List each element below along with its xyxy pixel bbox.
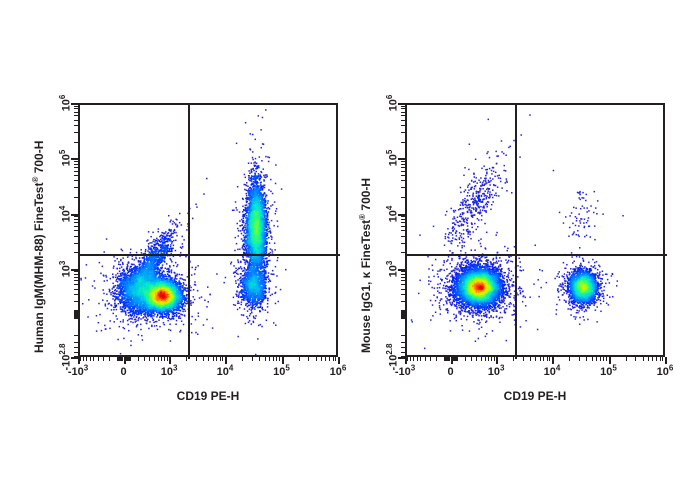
x-axis-minor-tick: [547, 357, 548, 361]
y-axis-minor-tick: [74, 347, 78, 348]
y-axis-minor-tick: [74, 352, 78, 353]
x-axis-minor-tick: [208, 357, 209, 361]
x-axis-minor-tick: [276, 357, 277, 361]
y-axis-minor-tick: [74, 274, 78, 275]
x-axis-minor-tick: [485, 357, 486, 361]
y-axis-minor-tick: [74, 317, 78, 318]
y-axis-minor-tick: [401, 164, 405, 165]
x-axis-minor-tick: [196, 357, 197, 361]
y-axis-minor-tick: [401, 252, 405, 253]
x-axis-title-right: CD19 PE-H: [504, 389, 567, 403]
y-axis-minor-tick: [74, 171, 78, 172]
y-axis-minor-tick: [74, 106, 78, 107]
y-axis-minor-tick: [401, 108, 405, 109]
x-axis-minor-tick: [299, 357, 300, 361]
y-axis-minor-tick: [74, 180, 78, 181]
y-axis-minor-tick: [74, 115, 78, 116]
x-axis-minor-tick: [569, 357, 570, 361]
x-axis-minor-tick: [167, 357, 168, 361]
y-axis-minor-tick: [74, 312, 78, 313]
y-axis-title-left: Human IgM(MHM-88) FineTest® 700-H: [32, 141, 46, 353]
y-axis-minor-tick: [401, 106, 405, 107]
x-axis-minor-tick: [540, 357, 541, 361]
x-axis-minor-tick: [660, 357, 661, 361]
x-axis-minor-tick: [325, 357, 326, 361]
y-axis-minor-tick: [74, 315, 78, 316]
x-axis-minor-tick: [471, 357, 472, 361]
x-axis-major-tick: [451, 357, 453, 364]
x-axis-minor-tick: [269, 357, 270, 361]
y-axis-minor-tick: [74, 226, 78, 227]
x-axis-major-tick: [609, 357, 611, 364]
y-axis-minor-tick: [401, 120, 405, 121]
x-axis-minor-tick: [83, 357, 84, 361]
y-axis-minor-tick: [401, 313, 405, 314]
y-axis-minor-tick: [74, 187, 78, 188]
x-axis-tick-label: 103: [161, 367, 178, 378]
x-axis-minor-tick: [103, 357, 104, 361]
y-axis-minor-tick: [401, 161, 405, 162]
x-axis-minor-tick: [626, 357, 627, 361]
x-axis-minor-tick: [643, 357, 644, 361]
y-axis-minor-tick: [401, 314, 405, 315]
y-axis-minor-tick: [401, 243, 405, 244]
y-axis-minor-tick: [401, 280, 405, 281]
x-axis-minor-tick: [425, 357, 426, 361]
x-axis-minor-tick: [158, 357, 159, 361]
quadrant-line-horizontal-right: [407, 254, 667, 256]
y-axis-minor-tick: [74, 294, 78, 295]
x-axis-minor-tick: [117, 357, 118, 361]
x-axis-title-left: CD19 PE-H: [177, 389, 240, 403]
x-axis-minor-tick: [457, 357, 458, 361]
y-axis-minor-tick: [74, 310, 78, 311]
x-axis-minor-tick: [436, 357, 437, 361]
x-axis-tick-label: 0: [121, 367, 127, 378]
x-axis-minor-tick: [90, 357, 91, 361]
y-axis-minor-tick: [401, 311, 405, 312]
y-axis-minor-tick: [401, 277, 405, 278]
x-axis-minor-tick: [321, 357, 322, 361]
x-axis-minor-tick: [592, 357, 593, 361]
x-axis-minor-tick: [138, 357, 139, 361]
y-axis-minor-tick: [74, 301, 78, 302]
y-axis-tick-label: 106: [62, 95, 73, 112]
x-axis-major-tick: [124, 357, 126, 364]
x-axis-minor-tick: [494, 357, 495, 361]
x-axis-minor-tick: [476, 357, 477, 361]
x-axis-minor-tick: [481, 357, 482, 361]
y-axis-minor-tick: [401, 347, 405, 348]
x-axis-minor-tick: [648, 357, 649, 361]
y-axis-minor-tick: [401, 175, 405, 176]
y-axis-minor-tick: [74, 289, 78, 290]
x-axis-minor-tick: [488, 357, 489, 361]
y-axis-minor-tick: [401, 271, 405, 272]
y-axis-minor-tick: [401, 197, 405, 198]
x-axis-minor-tick: [656, 357, 657, 361]
y-axis-title-right: Mouse IgG1, κ FineTest® 700-H: [359, 178, 373, 353]
y-axis-minor-tick: [74, 311, 78, 312]
x-axis-minor-tick: [596, 357, 597, 361]
y-axis-minor-tick: [74, 243, 78, 244]
y-axis-minor-tick: [401, 115, 405, 116]
x-axis-minor-tick: [80, 357, 81, 361]
x-axis-minor-tick: [149, 357, 150, 361]
y-axis-minor-tick: [401, 301, 405, 302]
x-axis-minor-tick: [652, 357, 653, 361]
x-axis-minor-tick: [316, 357, 317, 361]
y-axis-minor-tick: [74, 164, 78, 165]
y-axis-minor-tick: [401, 314, 405, 315]
x-axis-minor-tick: [513, 357, 514, 361]
x-axis-minor-tick: [329, 357, 330, 361]
x-axis-major-tick: [169, 357, 171, 364]
y-axis-minor-tick: [401, 294, 405, 295]
x-axis-tick-label: 103: [488, 367, 505, 378]
x-axis-tick-label: 105: [273, 367, 290, 378]
x-axis-minor-tick: [144, 357, 145, 361]
x-axis-minor-tick: [279, 357, 280, 361]
y-axis-minor-tick: [401, 167, 405, 168]
x-axis-major-tick: [665, 357, 667, 364]
x-axis-minor-tick: [600, 357, 601, 361]
x-axis-minor-tick: [635, 357, 636, 361]
x-axis-minor-tick: [586, 357, 587, 361]
y-axis-minor-tick: [74, 108, 78, 109]
x-axis-minor-tick: [98, 357, 99, 361]
x-axis-minor-tick: [549, 357, 550, 361]
x-axis-minor-tick: [491, 357, 492, 361]
y-axis-minor-tick: [74, 271, 78, 272]
y-axis-minor-tick: [74, 120, 78, 121]
x-axis-major-tick: [225, 357, 227, 364]
y-axis-minor-tick: [74, 284, 78, 285]
y-axis-minor-tick: [401, 317, 405, 318]
y-axis-minor-tick: [401, 219, 405, 220]
y-axis-minor-tick: [74, 335, 78, 336]
y-axis-minor-tick: [401, 284, 405, 285]
x-axis-minor-tick: [308, 357, 309, 361]
y-axis-minor-tick: [401, 312, 405, 313]
y-axis-minor-tick: [401, 187, 405, 188]
y-axis-minor-tick: [401, 230, 405, 231]
flow-plot-panel-right: -1030103104105106-102.8103104105106 CD19…: [344, 0, 688, 490]
y-axis-minor-tick: [74, 167, 78, 168]
y-axis-minor-tick: [401, 342, 405, 343]
x-axis-minor-tick: [606, 357, 607, 361]
x-axis-minor-tick: [164, 357, 165, 361]
x-axis-minor-tick: [662, 357, 663, 361]
x-axis-minor-tick: [259, 357, 260, 361]
x-axis-minor-tick: [222, 357, 223, 361]
x-axis-minor-tick: [417, 357, 418, 361]
y-axis-minor-tick: [74, 175, 78, 176]
y-axis-minor-tick: [401, 352, 405, 353]
y-axis-minor-tick: [401, 236, 405, 237]
y-axis-minor-tick: [401, 226, 405, 227]
y-axis-minor-tick: [74, 216, 78, 217]
x-axis-minor-tick: [543, 357, 544, 361]
y-axis-minor-tick: [74, 132, 78, 133]
y-axis-minor-tick: [401, 310, 405, 311]
y-axis-minor-tick: [74, 314, 78, 315]
x-axis-minor-tick: [413, 357, 414, 361]
y-axis-minor-tick: [401, 289, 405, 290]
x-axis-minor-tick: [86, 357, 87, 361]
quadrant-line-vertical-right: [515, 105, 517, 359]
y-axis-tick-label: 104: [62, 205, 73, 222]
x-axis-tick-label: 104: [217, 367, 234, 378]
y-axis-minor-tick: [74, 314, 78, 315]
y-axis-tick-label: 104: [389, 205, 400, 222]
plot-frame-left: [78, 103, 338, 357]
x-axis-minor-tick: [216, 357, 217, 361]
plot-frame-right: [405, 103, 665, 357]
y-axis-minor-tick: [74, 252, 78, 253]
x-axis-major-tick: [496, 357, 498, 364]
y-axis-minor-tick: [74, 219, 78, 220]
y-axis-minor-tick: [401, 112, 405, 113]
x-axis-minor-tick: [523, 357, 524, 361]
x-axis-minor-tick: [213, 357, 214, 361]
y-axis-minor-tick: [401, 142, 405, 143]
x-axis-minor-tick: [530, 357, 531, 361]
x-axis-minor-tick: [130, 357, 131, 361]
y-axis-minor-tick: [401, 171, 405, 172]
x-axis-minor-tick: [444, 357, 445, 361]
y-axis-minor-tick: [74, 316, 78, 317]
y-axis-minor-tick: [401, 216, 405, 217]
x-axis-minor-tick: [252, 357, 253, 361]
y-axis-minor-tick: [74, 280, 78, 281]
x-axis-major-tick: [405, 357, 407, 364]
x-axis-tick-label: 0: [448, 367, 454, 378]
x-axis-minor-tick: [407, 357, 408, 361]
y-axis-minor-tick: [74, 197, 78, 198]
x-axis-minor-tick: [242, 357, 243, 361]
x-axis-minor-tick: [579, 357, 580, 361]
y-axis-minor-tick: [74, 313, 78, 314]
x-axis-minor-tick: [273, 357, 274, 361]
y-axis-minor-tick: [401, 125, 405, 126]
x-axis-minor-tick: [420, 357, 421, 361]
x-axis-minor-tick: [535, 357, 536, 361]
y-axis-tick-label: 105: [62, 150, 73, 167]
y-axis-minor-tick: [401, 335, 405, 336]
y-axis-minor-tick: [401, 274, 405, 275]
x-axis-tick-label: 106: [657, 367, 674, 378]
y-axis-tick-label: -102.8: [62, 343, 73, 370]
y-axis-minor-tick: [74, 222, 78, 223]
y-axis-minor-tick: [74, 142, 78, 143]
y-axis-tick-label: 103: [389, 260, 400, 277]
x-axis-minor-tick: [203, 357, 204, 361]
x-axis-minor-tick: [109, 357, 110, 361]
y-axis-minor-tick: [401, 222, 405, 223]
x-axis-major-tick: [338, 357, 340, 364]
x-axis-minor-tick: [335, 357, 336, 361]
x-axis-minor-tick: [465, 357, 466, 361]
x-axis-major-tick: [78, 357, 80, 364]
y-axis-minor-tick: [74, 161, 78, 162]
y-axis-minor-tick: [401, 132, 405, 133]
x-axis-minor-tick: [333, 357, 334, 361]
scatter-canvas-left: [80, 105, 340, 359]
x-axis-minor-tick: [603, 357, 604, 361]
x-axis-minor-tick: [430, 357, 431, 361]
y-axis-minor-tick: [401, 180, 405, 181]
x-axis-minor-tick: [161, 357, 162, 361]
flow-plot-panel-left: -1030103104105106-102.8103104105106 CD19…: [0, 0, 344, 490]
x-axis-minor-tick: [93, 357, 94, 361]
y-axis-tick-label: 103: [62, 260, 73, 277]
y-axis-minor-tick: [74, 236, 78, 237]
y-axis-minor-tick: [74, 342, 78, 343]
y-axis-tick-label: 106: [389, 95, 400, 112]
y-axis-minor-tick: [74, 230, 78, 231]
scatter-canvas-right: [407, 105, 667, 359]
y-axis-minor-tick: [74, 277, 78, 278]
x-axis-tick-label: 105: [600, 367, 617, 378]
quadrant-line-horizontal-left: [80, 254, 340, 256]
y-axis-minor-tick: [74, 125, 78, 126]
x-axis-minor-tick: [154, 357, 155, 361]
figure-stage: -1030103104105106-102.8103104105106 CD19…: [0, 0, 688, 490]
y-axis-minor-tick: [401, 316, 405, 317]
y-axis-tick-label: 105: [389, 150, 400, 167]
x-axis-minor-tick: [410, 357, 411, 361]
y-axis-tick-label: -102.8: [389, 343, 400, 370]
y-axis-minor-tick: [74, 112, 78, 113]
quadrant-line-vertical-left: [188, 105, 190, 359]
x-axis-major-tick: [282, 357, 284, 364]
x-axis-minor-tick: [220, 357, 221, 361]
x-axis-minor-tick: [265, 357, 266, 361]
x-axis-minor-tick: [186, 357, 187, 361]
y-axis-minor-tick: [401, 315, 405, 316]
x-axis-tick-label: 104: [544, 367, 561, 378]
x-axis-major-tick: [552, 357, 554, 364]
